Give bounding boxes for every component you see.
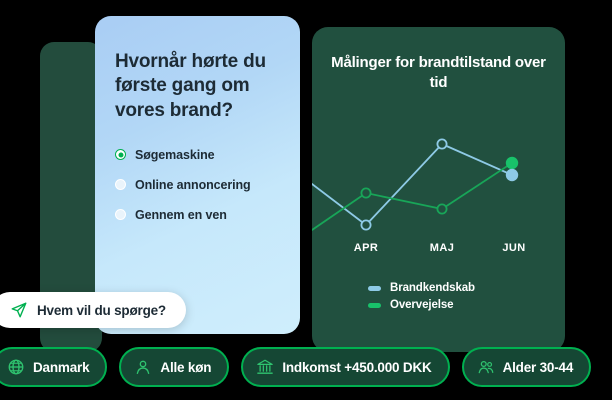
survey-option-2[interactable]: Gennem en ven [115,208,280,222]
x-axis-tick-jun: JUN [502,242,525,254]
person-icon [134,358,152,376]
legend-swatch-icon [368,286,381,291]
data-point-overvejelse-maj [437,204,446,213]
radio-button-icon[interactable] [115,179,126,190]
x-axis-tick-maj: MAJ [430,242,454,254]
line-chart-svg [312,112,565,247]
survey-options-list: Søgemaskine Online annoncering Gennem en… [115,148,280,222]
data-point-brandkendskab-jun [506,169,518,181]
survey-option-1[interactable]: Online annoncering [115,178,280,192]
chart-x-axis: APR MAJ JUN [312,242,565,262]
chart-legend: Brandkendskab Overvejelse [312,282,565,316]
filter-pill-alle-kon[interactable]: Alle køn [119,347,229,387]
composite-illustration: Hvornår hørte du første gang om vores br… [0,0,612,400]
survey-option-label: Søgemaskine [135,148,215,162]
globe-icon [7,358,25,376]
filter-pill-label: Alder 30-44 [503,360,574,375]
legend-swatch-icon [368,303,381,308]
survey-option-label: Gennem en ven [135,208,227,222]
legend-label: Overvejelse [390,299,453,311]
chart-title: Målinger for brandtilstand over tid [312,27,565,92]
legend-label: Brandkendskab [390,282,475,294]
prompt-bubble[interactable]: Hvem vil du spørge? [0,292,186,328]
chart-plot-area [312,112,565,247]
data-point-brandkendskab-apr [361,220,370,229]
prompt-text: Hvem vil du spørge? [37,303,166,318]
filter-pill-label: Danmark [33,360,89,375]
radio-button-icon[interactable] [115,209,126,220]
filter-pill-indkomst[interactable]: Indkomst +450.000 DKK [241,347,449,387]
filter-pill-danmark[interactable]: Danmark [0,347,107,387]
filter-pill-bar: Danmark Alle køn Indkomst +450.000 DKK [0,347,591,387]
survey-card: Hvornår hørte du første gang om vores br… [95,16,300,334]
filter-pill-alder[interactable]: Alder 30-44 [462,347,592,387]
data-point-overvejelse-jun [506,157,518,169]
data-point-overvejelse-apr [361,188,370,197]
survey-question-title: Hvornår hørte du første gang om vores br… [115,50,280,123]
radio-button-icon[interactable] [115,149,126,160]
data-point-brandkendskab-maj [437,139,446,148]
survey-option-0[interactable]: Søgemaskine [115,148,280,162]
survey-option-label: Online annoncering [135,178,251,192]
series-line-overvejelse [312,163,512,230]
x-axis-tick-apr: APR [354,242,378,254]
survey-card-body: Hvornår hørte du første gang om vores br… [95,16,300,222]
chart-card: Målinger for brandtilstand over tid APR [312,27,565,352]
series-line-brandkendskab [312,144,512,225]
filter-pill-label: Indkomst +450.000 DKK [282,360,431,375]
send-icon [10,301,28,319]
legend-item-overvejelse: Overvejelse [312,299,565,311]
bank-icon [256,358,274,376]
people-icon [477,358,495,376]
filter-pill-label: Alle køn [160,360,211,375]
legend-item-brandkendskab: Brandkendskab [312,282,565,294]
